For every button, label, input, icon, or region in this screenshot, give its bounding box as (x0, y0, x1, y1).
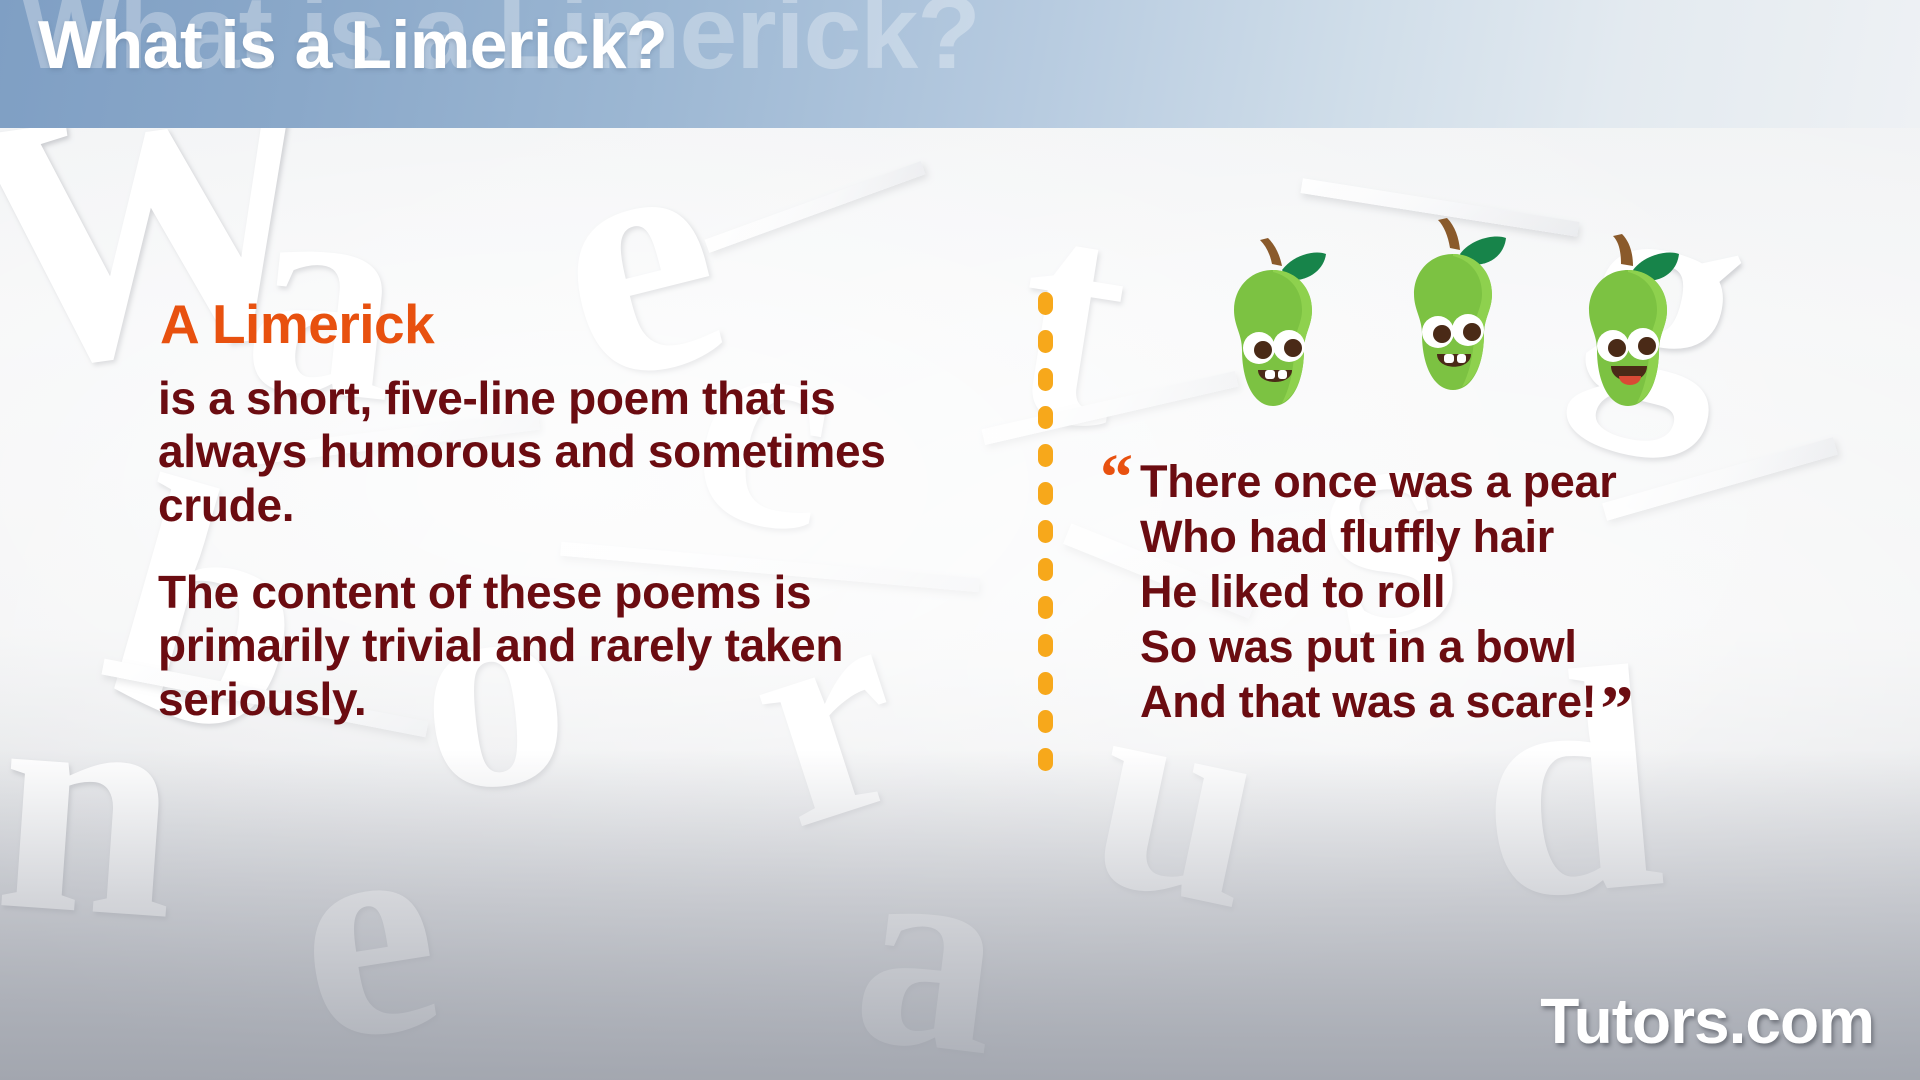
poem-line-5-row: And that was a scare!” (1140, 675, 1760, 730)
divider-dot (1038, 482, 1053, 505)
poem-line-5: And that was a scare! (1140, 676, 1596, 727)
pear-icon-center (1388, 218, 1518, 403)
definition-paragraph-1: is a short, five-line poem that is alway… (158, 372, 948, 532)
pear-icon-left (1208, 236, 1338, 421)
poem-line-3: He liked to roll (1140, 565, 1760, 620)
divider-dot (1038, 596, 1053, 619)
divider-dot (1038, 710, 1053, 733)
definition-column: A Limerick is a short, five-line poem th… (158, 292, 948, 726)
divider-dot (1038, 558, 1053, 581)
divider-dot (1038, 444, 1053, 467)
pear-icon-right (1563, 234, 1693, 419)
poem-line-2: Who had fluffly hair (1140, 510, 1760, 565)
header-bar: What is a Limerick? What is a Limerick? (0, 0, 1920, 128)
definition-paragraph-2: The content of these poems is primarily … (158, 566, 948, 726)
definition-heading: A Limerick (160, 292, 948, 356)
divider-dot (1038, 330, 1053, 353)
poem-line-1: There once was a pear (1140, 455, 1760, 510)
tutors-logo: Tutors.com (1540, 984, 1874, 1058)
quote-open-mark: “ (1100, 445, 1133, 511)
dotted-divider (1038, 292, 1053, 786)
divider-dot (1038, 520, 1053, 543)
poem-line-4: So was put in a bowl (1140, 620, 1760, 675)
divider-dot (1038, 634, 1053, 657)
divider-dot (1038, 406, 1053, 429)
divider-dot (1038, 368, 1053, 391)
slide-canvas: W a e c b o n r t s g d u e a What is a … (0, 0, 1920, 1080)
divider-dot (1038, 672, 1053, 695)
page-title: What is a Limerick? (38, 6, 667, 84)
pear-characters (1208, 218, 1708, 418)
quote-close-mark: ” (1600, 673, 1633, 746)
divider-dot (1038, 292, 1053, 315)
limerick-quote: “ There once was a pear Who had fluffly … (1140, 455, 1760, 729)
divider-dot (1038, 748, 1053, 771)
